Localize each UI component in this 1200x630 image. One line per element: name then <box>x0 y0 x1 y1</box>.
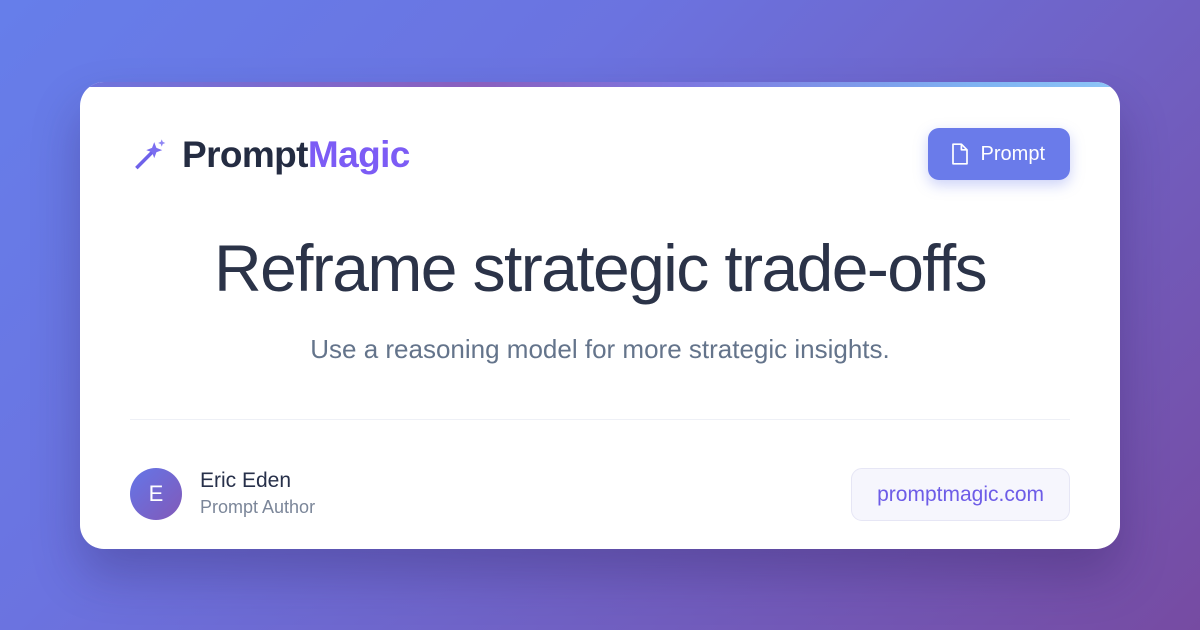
prompt-button[interactable]: Prompt <box>928 128 1070 180</box>
card-header: PromptMagic Prompt <box>130 126 1070 182</box>
file-document-icon <box>950 143 970 165</box>
footer-divider <box>130 419 1070 420</box>
share-card: PromptMagic Prompt Reframe strategic tra… <box>80 82 1120 549</box>
brand-secondary-text: Magic <box>308 134 410 175</box>
page-title: Reframe strategic trade-offs <box>130 232 1070 305</box>
author-meta: Eric Eden Prompt Author <box>200 468 315 520</box>
brand-primary-text: Prompt <box>182 134 308 175</box>
brand-text: PromptMagic <box>182 136 410 173</box>
card-footer: E Eric Eden Prompt Author promptmagic.co… <box>130 466 1070 522</box>
author-role: Prompt Author <box>200 496 315 519</box>
card-accent-strip <box>80 82 1120 87</box>
page-subtitle: Use a reasoning model for more strategic… <box>130 333 1070 367</box>
avatar: E <box>130 468 182 520</box>
magic-wand-icon <box>130 135 168 173</box>
card-main: Reframe strategic trade-offs Use a reaso… <box>130 232 1070 366</box>
prompt-button-label: Prompt <box>981 144 1045 164</box>
author-block: E Eric Eden Prompt Author <box>130 468 315 520</box>
author-name: Eric Eden <box>200 468 315 494</box>
brand-logo[interactable]: PromptMagic <box>130 135 410 173</box>
url-badge[interactable]: promptmagic.com <box>851 468 1070 521</box>
